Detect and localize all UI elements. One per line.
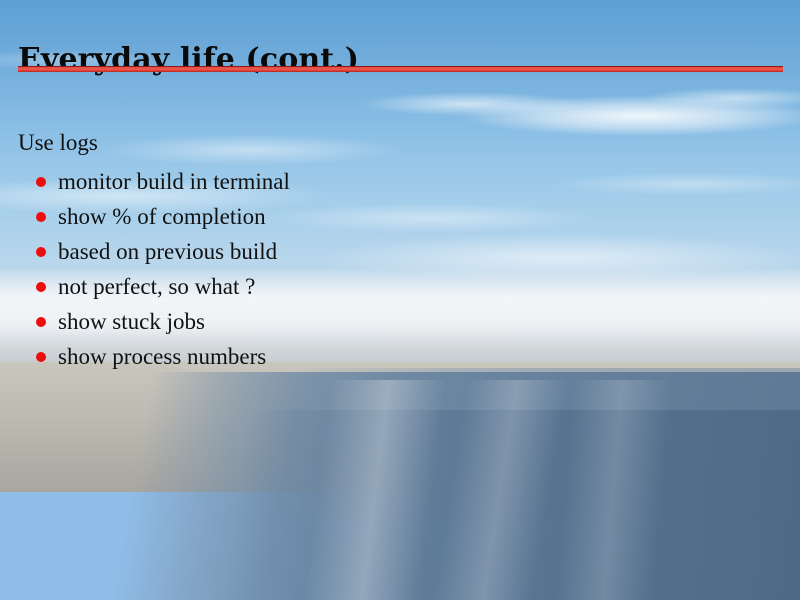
title-underline-rule <box>18 66 783 72</box>
list-item-label: show process numbers <box>58 344 266 369</box>
bullet-dot-icon <box>36 247 46 257</box>
bullet-dot-icon <box>36 317 46 327</box>
list-item: not perfect, so what ? <box>36 269 778 304</box>
list-item-label: based on previous build <box>58 239 277 264</box>
list-item: show stuck jobs <box>36 304 778 339</box>
list-item: monitor build in terminal <box>36 164 778 199</box>
list-item-label: monitor build in terminal <box>58 169 290 194</box>
slide-title: Everyday life (cont.) <box>18 42 359 78</box>
slide-body: Use logs monitor build in terminal show … <box>18 128 778 374</box>
presentation-slide: Everyday life (cont.) Use logs monitor b… <box>0 0 800 600</box>
list-item: show % of completion <box>36 199 778 234</box>
bullet-dot-icon <box>36 212 46 222</box>
lead-line: Use logs <box>18 128 778 158</box>
list-item: based on previous build <box>36 234 778 269</box>
list-item-label: show % of completion <box>58 204 266 229</box>
bullet-dot-icon <box>36 177 46 187</box>
list-item-label: not perfect, so what ? <box>58 274 255 299</box>
bullet-list: monitor build in terminal show % of comp… <box>18 164 778 374</box>
list-item-label: show stuck jobs <box>58 309 205 334</box>
bullet-dot-icon <box>36 352 46 362</box>
bullet-dot-icon <box>36 282 46 292</box>
list-item: show process numbers <box>36 339 778 374</box>
slide-content: Everyday life (cont.) Use logs monitor b… <box>0 0 800 600</box>
